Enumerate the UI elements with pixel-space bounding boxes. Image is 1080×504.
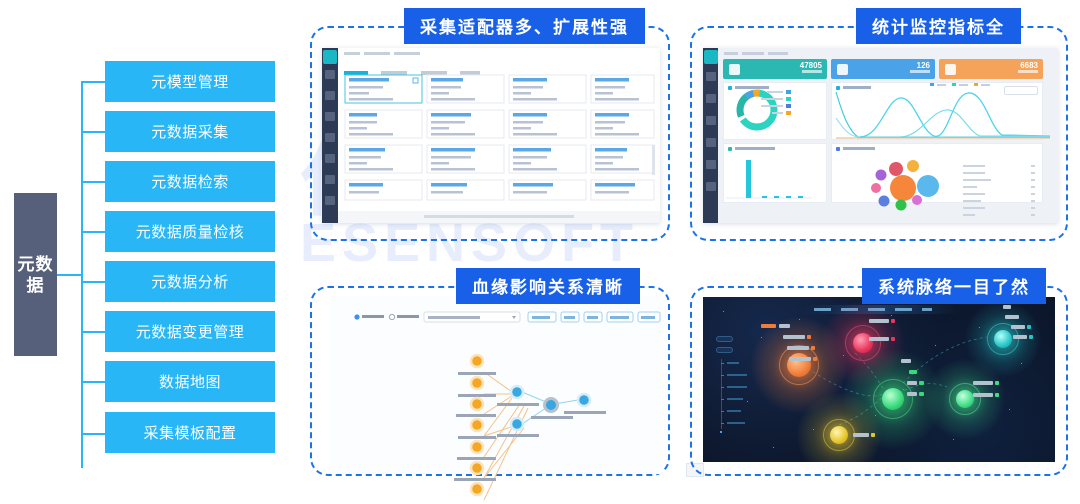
- orb-chip-1-7: [789, 357, 811, 361]
- breadcrumb: [724, 52, 792, 56]
- donut-panel-dot-icon: [728, 86, 732, 90]
- tree-connector-4: [81, 231, 105, 233]
- tab-collect-tools[interactable]: [381, 71, 407, 75]
- tree-connector-root: [57, 274, 81, 276]
- app-sidebar-adapter: [322, 48, 338, 223]
- tree-item-7[interactable]: 数据地图: [105, 361, 275, 402]
- tree-item-8-label: 采集模板配置: [143, 422, 236, 443]
- orb-chip-3-4: [919, 381, 924, 385]
- sidebar-icon-5[interactable]: [325, 154, 335, 163]
- orb-chip-3-1: [901, 359, 911, 363]
- tab-active-underline: [344, 72, 366, 74]
- screenshot-adapter[interactable]: [322, 48, 660, 223]
- tree-item-2-label: 元数据采集: [151, 121, 229, 142]
- tree-connector-2: [81, 131, 105, 133]
- orb-chip-5-6: [1029, 335, 1033, 339]
- orb-chip-2-1: [869, 319, 889, 323]
- sidebar-icon-5[interactable]: [706, 160, 716, 169]
- kpi-caption-1: [802, 70, 822, 73]
- tab-agent-tools[interactable]: [421, 71, 447, 75]
- tree-item-6[interactable]: 元数据变更管理: [105, 311, 275, 352]
- orb-chip-1-5: [787, 346, 809, 350]
- bubble-panel-dot-icon: [836, 147, 840, 151]
- kpi-value-1: 47805: [800, 61, 822, 70]
- orb-chip-4-4: [995, 393, 999, 397]
- sidebar-icon-1[interactable]: [325, 70, 335, 79]
- screenshot-lineage[interactable]: [330, 296, 662, 474]
- tab-bar[interactable]: [344, 62, 489, 72]
- kpi-card-3[interactable]: 6683: [939, 59, 1043, 79]
- panel-banner-lineage-label: 血缘影响关系清晰: [472, 273, 624, 298]
- panel-banner-lineage: 血缘影响关系清晰: [456, 268, 640, 304]
- bar-panel-title: [735, 147, 775, 150]
- tree-root-label: 元数据: [14, 254, 57, 296]
- kpi-caption-2: [910, 70, 930, 73]
- sidebar-icon-4[interactable]: [706, 138, 716, 147]
- screenshot-stats[interactable]: 47805 126 6683: [703, 48, 1058, 223]
- kpi-icon-2: [837, 64, 848, 75]
- app-logo-icon: [323, 50, 337, 64]
- tree-item-8[interactable]: 采集模板配置: [105, 412, 275, 453]
- kpi-value-3: 6683: [1020, 61, 1038, 70]
- tree-connector-5: [81, 281, 105, 283]
- kpi-icon-1: [729, 64, 740, 75]
- panel-banner-galaxy: 系统脉络一目了然: [862, 268, 1046, 304]
- tree-item-1[interactable]: 元模型管理: [105, 61, 275, 102]
- metadata-tree: 元数据 元模型管理 元数据采集 元数据检索 元数据质量检核 元数据分析 元数据变…: [0, 0, 300, 504]
- kpi-caption-3: [1018, 70, 1038, 73]
- sidebar-icon-6[interactable]: [706, 182, 716, 191]
- orb-core-2[interactable]: [853, 333, 873, 353]
- orb-chip-1-4: [807, 335, 811, 339]
- panel-banner-galaxy-label: 系统脉络一目了然: [878, 273, 1030, 298]
- bubble-panel-title: [843, 147, 875, 150]
- orb-chip-3-2: [909, 370, 917, 374]
- line-panel-dot-icon: [836, 86, 840, 90]
- orb-chip-3-3: [907, 381, 917, 385]
- tree-connector-6: [81, 331, 105, 333]
- orb-chip-5-5: [1013, 335, 1027, 339]
- sidebar-icon-3[interactable]: [325, 112, 335, 121]
- orb-core-6[interactable]: [830, 426, 848, 444]
- donut-panel-title: [735, 86, 769, 89]
- bar-panel: [723, 143, 827, 203]
- sidebar-icon-2[interactable]: [325, 91, 335, 100]
- tree-connector-7: [81, 381, 105, 383]
- sidebar-icon-7[interactable]: [325, 196, 335, 205]
- line-range-select[interactable]: [1004, 86, 1038, 95]
- tree-connector-1: [81, 81, 105, 83]
- tree-item-4-label: 元数据质量检核: [136, 221, 245, 242]
- orb-chip-1-8: [813, 357, 817, 361]
- kpi-icon-3: [945, 64, 956, 75]
- orb-core-4[interactable]: [956, 390, 974, 408]
- orb-chip-4-3: [973, 393, 993, 397]
- tree-item-4[interactable]: 元数据质量检核: [105, 211, 275, 252]
- kpi-value-2: 126: [917, 61, 930, 70]
- lineage-canvas[interactable]: [330, 296, 662, 474]
- screenshot-galaxy[interactable]: [703, 297, 1055, 462]
- tree-item-7-label: 数据地图: [159, 371, 221, 392]
- donut-panel: [723, 82, 827, 140]
- breadcrumb: [344, 52, 424, 56]
- orb-chip-5-4: [1027, 325, 1031, 329]
- kpi-card-1[interactable]: 47805: [723, 59, 827, 79]
- orb-core-5[interactable]: [994, 330, 1012, 348]
- orb-core-3[interactable]: [882, 388, 904, 410]
- sidebar-icon-6[interactable]: [325, 175, 335, 184]
- app-body-adapter: [338, 48, 660, 223]
- bar-panel-dot-icon: [728, 147, 732, 151]
- tree-root-node[interactable]: 元数据: [14, 193, 57, 356]
- orb-chip-4-2: [995, 381, 999, 385]
- orb-chip-6-2: [871, 433, 875, 437]
- tree-item-5[interactable]: 元数据分析: [105, 261, 275, 302]
- line-panel-title: [843, 86, 871, 89]
- orb-chip-3-5: [907, 392, 917, 396]
- tree-item-1-label: 元模型管理: [151, 71, 229, 92]
- tree-connector-spine: [81, 81, 83, 468]
- tree-item-5-label: 元数据分析: [151, 271, 229, 292]
- orb-chip-3-6: [919, 392, 924, 396]
- app-logo-icon: [704, 50, 718, 64]
- tree-item-2[interactable]: 元数据采集: [105, 111, 275, 152]
- orb-chip-5-1: [1003, 305, 1011, 309]
- sidebar-icon-2[interactable]: [706, 94, 716, 103]
- panel-banner-stats: 统计监控指标全: [856, 8, 1021, 44]
- orb-chip-2-3: [869, 337, 889, 341]
- app-sidebar-stats: [703, 48, 718, 223]
- sidebar-icon-3[interactable]: [706, 116, 716, 125]
- tree-item-3[interactable]: 元数据检索: [105, 161, 275, 202]
- orb-chip-1-6: [811, 346, 815, 350]
- panel-banner-adapter: 采集适配器多、扩展性强: [404, 8, 645, 44]
- orb-chip-1-2: [779, 324, 790, 328]
- panel-banner-stats-label: 统计监控指标全: [872, 13, 1005, 38]
- tab-template-dir[interactable]: [460, 71, 480, 75]
- app-body-stats: 47805 126 6683: [718, 48, 1058, 223]
- app-footer: [338, 211, 660, 223]
- orb-chip-5-2: [1005, 315, 1019, 319]
- tree-connector-8: [81, 433, 105, 435]
- kpi-card-2[interactable]: 126: [831, 59, 935, 79]
- orb-chip-2-2: [891, 319, 895, 323]
- orb-chip-1-3: [783, 335, 805, 339]
- orb-chip-5-3: [1011, 325, 1025, 329]
- orb-chip-1-1: [761, 324, 776, 328]
- orb-chip-4-1: [973, 381, 993, 385]
- line-panel: [831, 82, 1043, 140]
- orb-chip-6-1: [853, 433, 869, 437]
- sidebar-icon-1[interactable]: [706, 72, 716, 81]
- sidebar-icon-4[interactable]: [325, 133, 335, 142]
- tree-item-3-label: 元数据检索: [151, 171, 229, 192]
- bubble-panel: [831, 143, 1043, 203]
- orb-chip-2-4: [891, 337, 895, 341]
- tree-item-6-label: 元数据变更管理: [136, 321, 245, 342]
- panel-banner-adapter-label: 采集适配器多、扩展性强: [420, 13, 629, 38]
- tree-connector-3: [81, 181, 105, 183]
